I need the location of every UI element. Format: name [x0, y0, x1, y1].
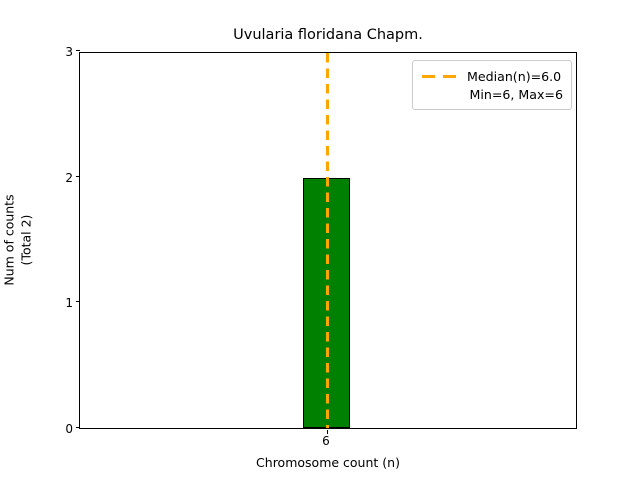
legend-label-minmax: Min=6, Max=6 — [469, 87, 563, 102]
x-axis-label: Chromosome count (n) — [79, 455, 577, 470]
legend: Median(n)=6.0 Min=6, Max=6 — [412, 60, 572, 110]
xtick-label-6: 6 — [306, 434, 346, 448]
legend-label-median: Median(n)=6.0 — [467, 69, 561, 84]
dashed-line-icon — [421, 67, 459, 85]
y-axis-label-line2: (Total 2) — [18, 52, 35, 429]
ytick-mark-2 — [76, 176, 80, 177]
ytick-mark-0 — [76, 427, 80, 428]
ytick-label-2: 2 — [55, 171, 73, 185]
figure-canvas: Uvularia floridana Chapm. 0 1 2 3 6 Chro… — [0, 0, 640, 480]
ytick-mark-1 — [76, 301, 80, 302]
legend-entry-minmax: Min=6, Max=6 — [421, 85, 563, 103]
ytick-label-1: 1 — [55, 296, 73, 310]
page-title: Uvularia floridana Chapm. — [79, 27, 577, 43]
median-line — [326, 53, 329, 428]
ytick-mark-3 — [76, 50, 80, 51]
ytick-label-0: 0 — [55, 422, 73, 436]
y-axis-label: Num of counts (Total 2) — [1, 52, 35, 429]
y-axis-label-line1: Num of counts — [1, 52, 18, 429]
legend-entry-median: Median(n)=6.0 — [421, 67, 563, 85]
ytick-label-3: 3 — [55, 45, 73, 59]
